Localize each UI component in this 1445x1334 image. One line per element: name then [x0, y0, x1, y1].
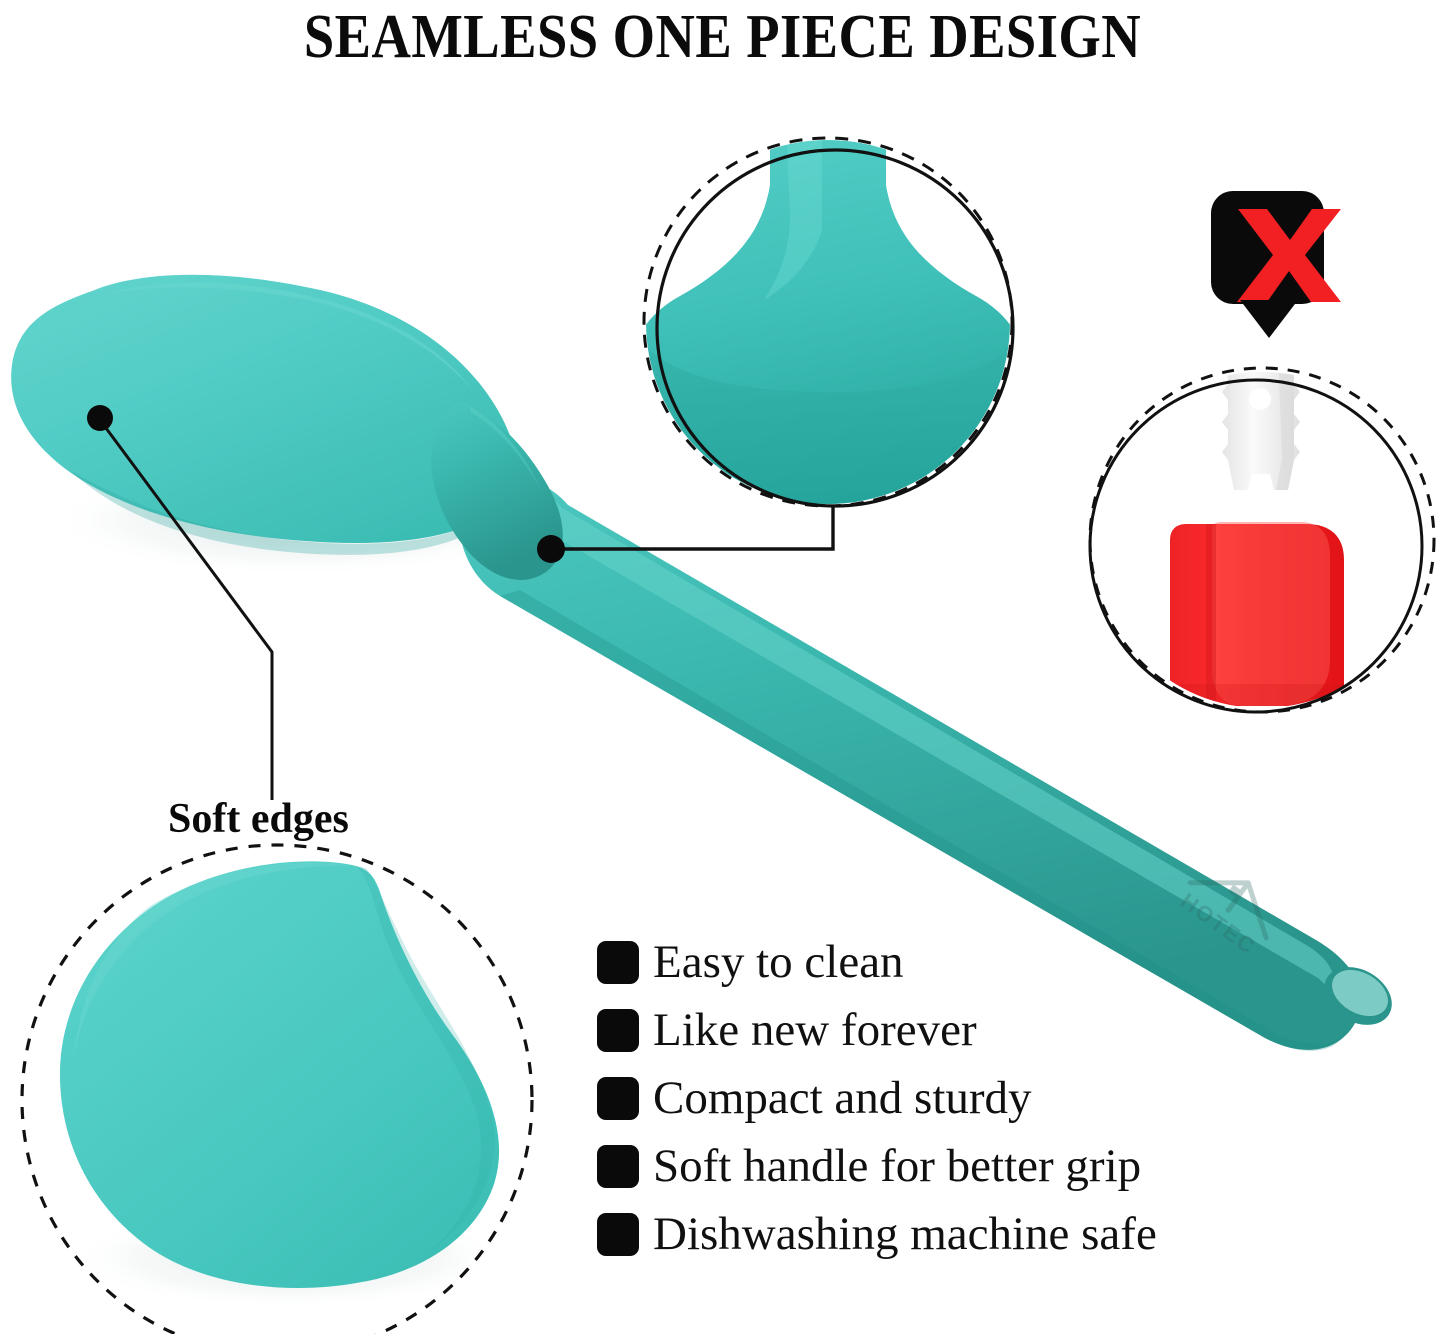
- feature-item: Dishwashing machine safe: [597, 1200, 1397, 1268]
- insert-hole: [1249, 388, 1271, 410]
- callout-dot-soft-edges: [87, 405, 113, 431]
- feature-item: Compact and sturdy: [597, 1064, 1397, 1132]
- feature-item: Easy to clean: [597, 928, 1397, 996]
- feature-label: Dishwashing machine safe: [653, 1211, 1157, 1258]
- red-head-edge: [1206, 524, 1216, 706]
- bullet-square-icon: [597, 1077, 639, 1120]
- feature-item: Soft handle for better grip: [597, 1132, 1397, 1200]
- feature-label: Like new forever: [653, 1007, 977, 1054]
- bullet-square-icon: [597, 1213, 639, 1256]
- reject-badge: [1211, 191, 1341, 338]
- feature-item: Like new forever: [597, 996, 1397, 1064]
- bullet-square-icon: [597, 941, 639, 984]
- detail-circle-soft-edge: [20, 845, 540, 1334]
- feature-label: Easy to clean: [653, 939, 904, 986]
- red-head-inner-lip: [1212, 522, 1330, 706]
- feature-label: Compact and sturdy: [653, 1075, 1032, 1122]
- feature-list: Easy to clean Like new forever Compact a…: [597, 928, 1397, 1268]
- infographic-canvas: SEAMLESS ONE PIECE DESIGN: [0, 0, 1445, 1334]
- bullet-square-icon: [597, 1145, 639, 1188]
- bullet-square-icon: [597, 1009, 639, 1052]
- down-triangle-icon: [1240, 300, 1298, 338]
- red-head-base-shade: [1170, 684, 1344, 706]
- callout-dot-seamless-joint: [537, 535, 565, 563]
- detail-circle-two-piece-reject: [1090, 350, 1440, 718]
- feature-label: Soft handle for better grip: [653, 1143, 1141, 1190]
- callout-label-soft-edges: Soft edges: [168, 795, 349, 843]
- detail-circle-seamless-joint: [628, 120, 1028, 528]
